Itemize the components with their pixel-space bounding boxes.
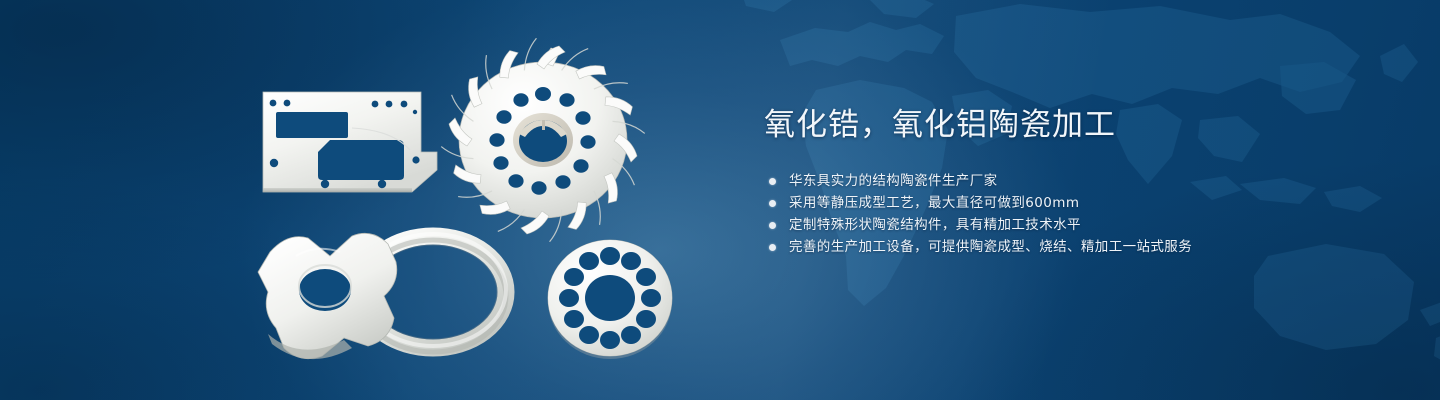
ceramic-cross-shaped-part xyxy=(258,233,397,359)
feature-item: 采用等静压成型工艺，最大直径可做到600mm xyxy=(764,192,1384,214)
bullet-dot-icon xyxy=(769,178,776,185)
ceramic-perforated-disc xyxy=(548,240,672,359)
ceramic-vaned-impeller xyxy=(441,38,645,242)
bullet-dot-icon xyxy=(769,200,776,207)
bullet-dot-icon xyxy=(769,244,776,251)
product-photo-cluster xyxy=(0,0,740,400)
feature-item: 华东具实力的结构陶瓷件生产厂家 xyxy=(764,170,1384,192)
feature-item-label: 华东具实力的结构陶瓷件生产厂家 xyxy=(789,170,998,192)
banner-headline: 氧化锆，氧化铝陶瓷加工 xyxy=(764,104,1384,146)
feature-item: 完善的生产加工设备，可提供陶瓷成型、烧结、精加工一站式服务 xyxy=(764,236,1384,258)
promo-banner: 氧化锆，氧化铝陶瓷加工 华东具实力的结构陶瓷件生产厂家 采用等静压成型工艺，最大… xyxy=(0,0,1440,400)
feature-item-label: 完善的生产加工设备，可提供陶瓷成型、烧结、精加工一站式服务 xyxy=(789,236,1192,258)
banner-copy: 氧化锆，氧化铝陶瓷加工 华东具实力的结构陶瓷件生产厂家 采用等静压成型工艺，最大… xyxy=(764,104,1384,258)
bullet-dot-icon xyxy=(769,222,776,229)
feature-item-label: 定制特殊形状陶瓷结构件，具有精加工技术水平 xyxy=(789,214,1081,236)
feature-item: 定制特殊形状陶瓷结构件，具有精加工技术水平 xyxy=(764,214,1384,236)
ceramic-machined-plate xyxy=(263,92,437,192)
feature-list: 华东具实力的结构陶瓷件生产厂家 采用等静压成型工艺，最大直径可做到600mm 定… xyxy=(764,170,1384,258)
feature-item-label: 采用等静压成型工艺，最大直径可做到600mm xyxy=(789,192,1079,214)
